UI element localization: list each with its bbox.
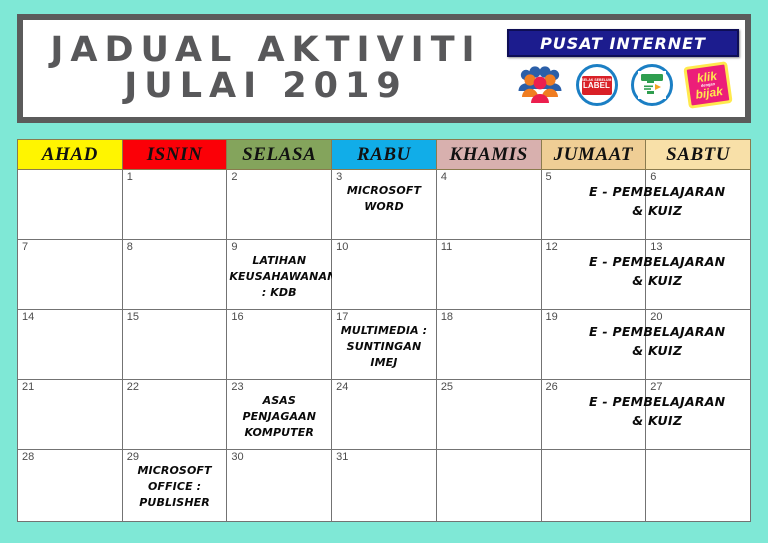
logo-block: PUSAT INTERNET <box>501 20 745 117</box>
day-number: 27 <box>650 381 662 393</box>
label-chip: SELAK SEBELUM LABEL <box>582 76 612 95</box>
calendar-day-cell[interactable]: 2 <box>227 170 332 240</box>
label-badge-logo: SELAK SEBELUM LABEL <box>576 64 618 106</box>
day-event-label: ASAS PENJAGAAN KOMPUTER <box>227 393 331 441</box>
calendar-day-cell[interactable]: 21 <box>18 380 123 450</box>
calendar-day-cell[interactable]: 3MICROSOFT WORD <box>332 170 437 240</box>
day-number: 21 <box>22 381 34 393</box>
mobile-badge-logo <box>631 64 673 106</box>
day-number: 10 <box>336 241 348 253</box>
calendar-day-cell[interactable]: 26 <box>541 380 646 450</box>
day-number: 23 <box>231 381 243 393</box>
calendar-day-cell[interactable]: 28 <box>18 450 123 522</box>
day-number: 7 <box>22 241 28 253</box>
day-header-ahad: AHAD <box>18 140 123 170</box>
calendar-day-cell[interactable]: 4 <box>436 170 541 240</box>
calendar-day-cell[interactable]: 5 <box>541 170 646 240</box>
calendar-day-cell[interactable]: 8 <box>122 240 227 310</box>
calendar-day-cell[interactable]: 15 <box>122 310 227 380</box>
calendar-day-cell[interactable]: 24 <box>332 380 437 450</box>
calendar-day-cell[interactable]: 13E - PEMBELAJARAN & KUIZ <box>646 240 751 310</box>
day-number: 4 <box>441 171 447 183</box>
calendar-week-row: 212223ASAS PENJAGAAN KOMPUTER24252627E -… <box>18 380 751 450</box>
calendar-poster: JADUAL AKTIVITI JULAI 2019 PUSAT INTERNE… <box>0 0 768 543</box>
day-number: 13 <box>650 241 662 253</box>
calendar-week-row: 2829MICROSOFT OFFICE : PUBLISHER3031 <box>18 450 751 522</box>
calendar-day-cell[interactable]: 1 <box>122 170 227 240</box>
label-chip-main-text: LABEL <box>583 82 610 91</box>
calendar-day-cell[interactable]: 9LATIHAN KEUSAHAWANAN : KDB <box>227 240 332 310</box>
day-number: 8 <box>127 241 133 253</box>
day-number: 28 <box>22 451 34 463</box>
page-title-line-2: JULAI 2019 <box>31 69 501 105</box>
day-event-label: MICROSOFT OFFICE : PUBLISHER <box>123 463 227 511</box>
day-header-khamis: KHAMIS <box>436 140 541 170</box>
calendar-day-cell[interactable]: 23ASAS PENJAGAAN KOMPUTER <box>227 380 332 450</box>
page-title-line-1: JADUAL AKTIVITI <box>31 33 501 69</box>
day-number: 25 <box>441 381 453 393</box>
klik-bijak-logo: klik dengan bijak <box>683 61 732 109</box>
calendar-day-cell[interactable]: 11 <box>436 240 541 310</box>
calendar-day-cell[interactable]: 18 <box>436 310 541 380</box>
calendar-day-cell[interactable]: 12 <box>541 240 646 310</box>
logo-row: SELAK SEBELUM LABEL <box>517 62 730 108</box>
pusat-internet-label: PUSAT INTERNET <box>540 34 706 53</box>
day-number: 17 <box>336 311 348 323</box>
calendar-empty-cell[interactable] <box>541 450 646 522</box>
mobile-badge-graphic <box>638 71 666 99</box>
title-text-block: JADUAL AKTIVITI JULAI 2019 <box>23 33 501 104</box>
day-event-label: LATIHAN KEUSAHAWANAN : KDB <box>227 253 331 301</box>
day-number: 16 <box>231 311 243 323</box>
calendar-empty-cell[interactable] <box>18 170 123 240</box>
day-header-selasa: SELASA <box>227 140 332 170</box>
calendar-empty-cell[interactable] <box>436 450 541 522</box>
day-number: 12 <box>546 241 558 253</box>
klik-bijak-line-3: bijak <box>694 85 723 101</box>
calendar-day-cell[interactable]: 7 <box>18 240 123 310</box>
day-number: 26 <box>546 381 558 393</box>
calendar-body: 123MICROSOFT WORD456E - PEMBELAJARAN & K… <box>18 170 751 522</box>
calendar-day-cell[interactable]: 29MICROSOFT OFFICE : PUBLISHER <box>122 450 227 522</box>
day-number: 19 <box>546 311 558 323</box>
calendar-day-cell[interactable]: 22 <box>122 380 227 450</box>
day-number: 3 <box>336 171 342 183</box>
calendar-day-cell[interactable]: 25 <box>436 380 541 450</box>
day-header-isnin: ISNIN <box>122 140 227 170</box>
day-event-label: MICROSOFT WORD <box>332 183 436 215</box>
day-event-label: MULTIMEDIA : SUNTINGAN IMEJ <box>332 323 436 371</box>
calendar-day-cell[interactable]: 20E - PEMBELAJARAN & KUIZ <box>646 310 751 380</box>
day-number: 31 <box>336 451 348 463</box>
day-number: 5 <box>546 171 552 183</box>
pusat-internet-banner: PUSAT INTERNET <box>507 29 739 57</box>
day-number: 1 <box>127 171 133 183</box>
day-number: 30 <box>231 451 243 463</box>
calendar-day-cell[interactable]: 31 <box>332 450 437 522</box>
calendar-week-row: 789LATIHAN KEUSAHAWANAN : KDB10111213E -… <box>18 240 751 310</box>
day-header-sabtu: SABTU <box>646 140 751 170</box>
calendar-empty-cell[interactable] <box>646 450 751 522</box>
calendar-day-cell[interactable]: 16 <box>227 310 332 380</box>
calendar-day-cell[interactable]: 14 <box>18 310 123 380</box>
calendar-week-row: 123MICROSOFT WORD456E - PEMBELAJARAN & K… <box>18 170 751 240</box>
day-number: 22 <box>127 381 139 393</box>
day-number: 11 <box>441 241 452 253</box>
calendar-day-cell[interactable]: 30 <box>227 450 332 522</box>
calendar-day-cell[interactable]: 19 <box>541 310 646 380</box>
calendar-week-row: 14151617MULTIMEDIA : SUNTINGAN IMEJ18192… <box>18 310 751 380</box>
title-banner: JADUAL AKTIVITI JULAI 2019 PUSAT INTERNE… <box>17 14 751 123</box>
calendar-header-row: AHADISNINSELASARABUKHAMISJUMAATSABTU <box>18 140 751 170</box>
community-people-logo <box>517 64 563 106</box>
day-number: 6 <box>650 171 656 183</box>
mobile-chip <box>638 71 666 99</box>
day-number: 9 <box>231 241 237 253</box>
day-number: 20 <box>650 311 662 323</box>
day-number: 24 <box>336 381 348 393</box>
day-header-jumaat: JUMAAT <box>541 140 646 170</box>
calendar-table: AHADISNINSELASARABUKHAMISJUMAATSABTU 123… <box>17 139 751 522</box>
calendar-day-cell[interactable]: 27E - PEMBELAJARAN & KUIZ <box>646 380 751 450</box>
day-number: 2 <box>231 171 237 183</box>
calendar-day-cell[interactable]: 17MULTIMEDIA : SUNTINGAN IMEJ <box>332 310 437 380</box>
day-number: 14 <box>22 311 34 323</box>
day-header-rabu: RABU <box>332 140 437 170</box>
day-number: 29 <box>127 451 139 463</box>
calendar-day-cell[interactable]: 10 <box>332 240 437 310</box>
calendar-day-cell[interactable]: 6E - PEMBELAJARAN & KUIZ <box>646 170 751 240</box>
day-number: 15 <box>127 311 139 323</box>
day-number: 18 <box>441 311 453 323</box>
